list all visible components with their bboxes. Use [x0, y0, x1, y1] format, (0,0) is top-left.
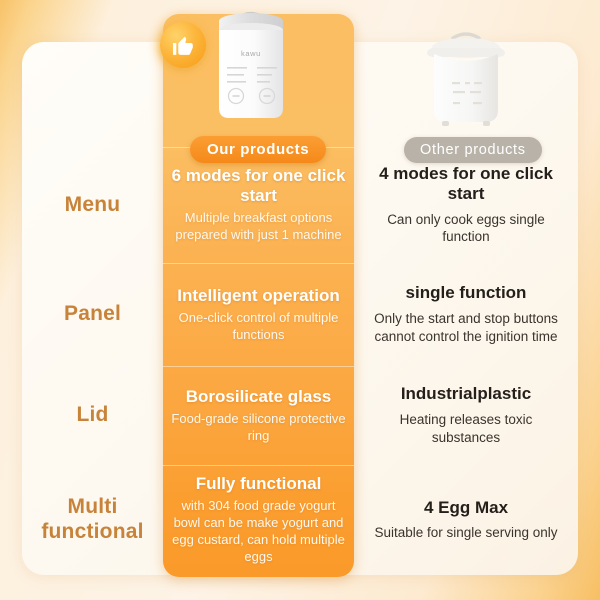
other-subtitle-menu: Can only cook eggs single function — [366, 211, 566, 247]
comparison-row-panel: Panel Intelligent operation One-click co… — [22, 263, 578, 366]
other-cell-menu: 4 modes for one click start Can only coo… — [354, 147, 578, 263]
other-subtitle-lid: Heating releases toxic substances — [366, 411, 566, 447]
row-label-menu: Menu — [22, 147, 163, 263]
our-subtitle-lid: Food-grade silicone protective ring — [169, 411, 348, 445]
other-title-menu: 4 modes for one click start — [366, 164, 566, 205]
comparison-row-multifunctional: Multi functional Fully functional with 3… — [22, 465, 578, 575]
our-subtitle-menu: Multiple breakfast options prepared with… — [169, 210, 348, 244]
other-cell-panel: single function Only the start and stop … — [354, 263, 578, 366]
comparison-row-menu: Menu 6 modes for one click start Multipl… — [22, 147, 578, 263]
row-label-multifunctional: Multi functional — [22, 465, 163, 575]
other-subtitle-panel: Only the start and stop buttons cannot c… — [366, 310, 566, 346]
our-cell-menu: 6 modes for one click start Multiple bre… — [163, 147, 354, 263]
row-label-panel: Panel — [22, 263, 163, 366]
other-subtitle-multifunctional: Suitable for single serving only — [374, 524, 557, 542]
our-cell-multifunctional: Fully functional with 304 food grade yog… — [163, 465, 354, 575]
our-subtitle-multifunctional: with 304 food grade yogurt bowl can be m… — [169, 498, 348, 566]
our-subtitle-panel: One-click control of multiple functions — [169, 310, 348, 344]
comparison-row-lid: Lid Borosilicate glass Food-grade silico… — [22, 366, 578, 465]
other-title-multifunctional: 4 Egg Max — [424, 498, 508, 518]
other-title-lid: Industrialplastic — [401, 384, 531, 404]
our-title-lid: Borosilicate glass — [186, 387, 332, 407]
our-cell-lid: Borosilicate glass Food-grade silicone p… — [163, 366, 354, 465]
comparison-grid: Menu 6 modes for one click start Multipl… — [22, 42, 578, 575]
our-title-panel: Intelligent operation — [177, 286, 339, 306]
other-cell-multifunctional: 4 Egg Max Suitable for single serving on… — [354, 465, 578, 575]
other-title-panel: single function — [406, 283, 527, 303]
row-label-lid: Lid — [22, 366, 163, 465]
our-cell-panel: Intelligent operation One-click control … — [163, 263, 354, 366]
our-title-menu: 6 modes for one click start — [169, 166, 348, 206]
our-title-multifunctional: Fully functional — [196, 474, 322, 494]
other-cell-lid: Industrialplastic Heating releases toxic… — [354, 366, 578, 465]
